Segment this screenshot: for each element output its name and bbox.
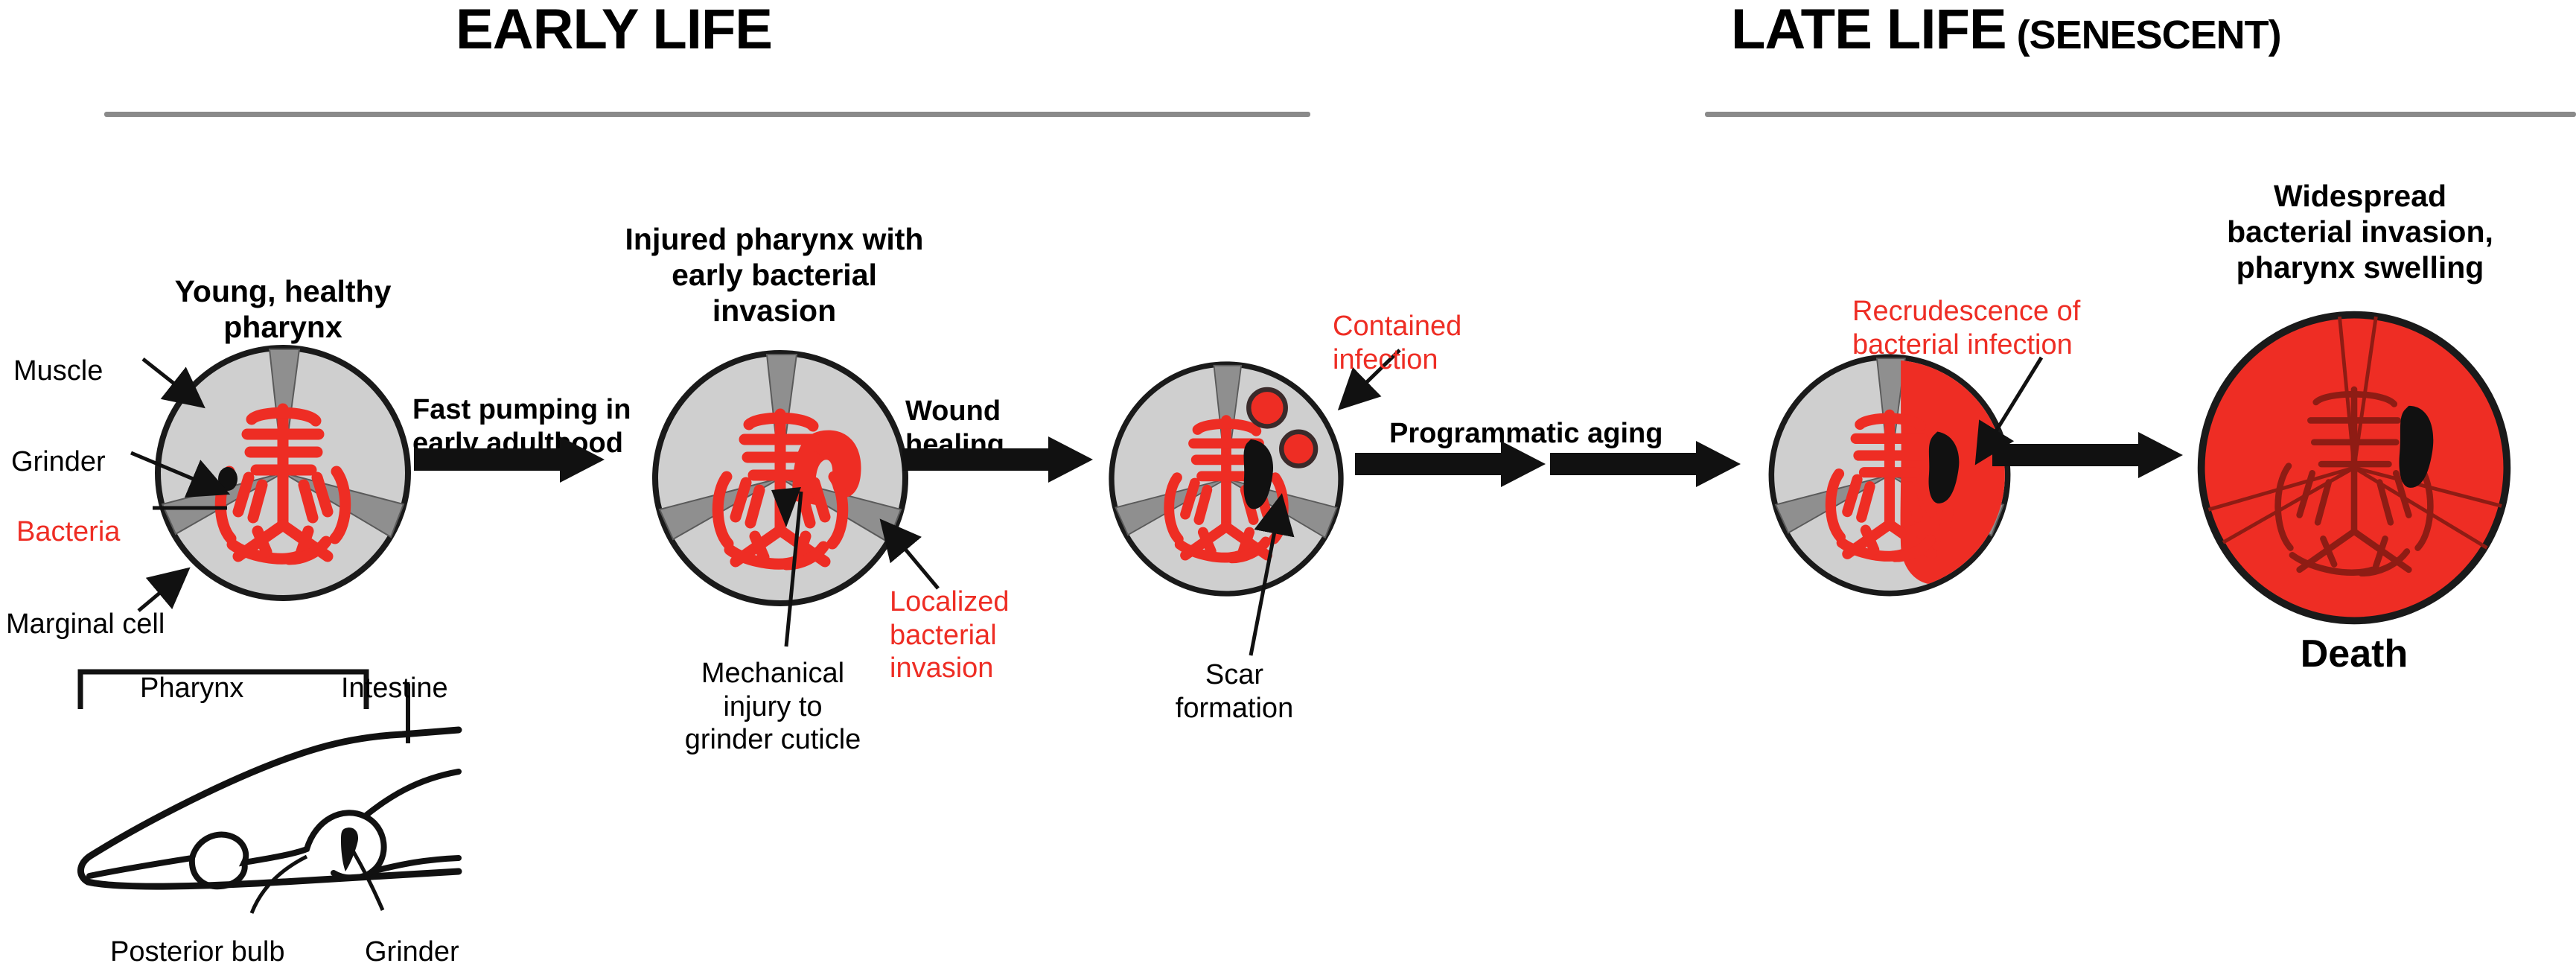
header-late-life: LATE LIFE(SENESCENT) [1731, 1, 2281, 58]
arrow-right-icon [1355, 441, 1546, 487]
inset-label-pharynx-text: Pharynx [140, 673, 243, 704]
header-late-life-label: LATE LIFE [1731, 0, 2006, 61]
arrow-right-icon [1992, 432, 2183, 478]
panel-5-title: Widespread bacterial invasion, pharynx s… [2167, 143, 2554, 286]
panel-2-title: Injured pharynx with early bacterial inv… [588, 186, 960, 329]
inset-label-pharynx: Pharynx [140, 639, 243, 705]
arrow-right-icon [902, 436, 1093, 483]
inset-label-intestine: Intestine [341, 639, 448, 705]
callout-recrudescence-label: Recrudescence of bacterial infection [1852, 296, 2080, 360]
header-early-life: EARLY LIFE [456, 1, 772, 58]
header-late-life-rule [1705, 112, 2576, 117]
step-3-arrow-first [1355, 439, 1549, 492]
leader-grinder [131, 453, 223, 492]
callout-scar-formation: Scar formation [1160, 626, 1309, 725]
panel-5-caption: Death [2190, 632, 2518, 676]
step-3-arrow-second [1550, 439, 1744, 492]
callout-recrudescence: Recrudescence of bacterial infection [1852, 262, 2080, 361]
leader-marginal-cell [138, 572, 185, 611]
worm-head-inset [15, 641, 536, 931]
inset-label-posterior-bulb: Posterior bulb [110, 903, 284, 969]
header-early-life-rule [104, 112, 1310, 117]
panel-1-leader-lines [0, 313, 313, 626]
callout-mechanical-injury: Mechanical injury to grinder cuticle [624, 624, 922, 757]
worm-head-schematic [15, 641, 536, 931]
arrow-right-icon [1550, 441, 1741, 487]
pharynx-cross-section-death [2190, 304, 2518, 632]
inset-label-grinder-text: Grinder [365, 936, 459, 968]
grinder-hook [341, 827, 358, 871]
callout-contained-infection: Contained infection [1333, 277, 1461, 376]
inset-label-intestine-text: Intestine [341, 673, 448, 704]
panel-5-title-label: Widespread bacterial invasion, pharynx s… [2227, 179, 2493, 285]
callout-mechanical-injury-label: Mechanical injury to grinder cuticle [685, 658, 861, 755]
leader-mechanical-injury [786, 492, 801, 646]
step-2-arrow [902, 435, 1096, 487]
inset-label-grinder: Grinder [365, 903, 459, 969]
step-1-arrow [414, 435, 608, 487]
panel-2-title-label: Injured pharynx with early bacterial inv… [625, 222, 924, 328]
step-4-arrow [1992, 431, 2186, 483]
header-early-life-label: EARLY LIFE [456, 0, 772, 61]
pharynx-lumen-upper [89, 813, 384, 877]
panel-5-diagram [2190, 304, 2518, 632]
panel-5-caption-label: Death [2301, 632, 2408, 676]
callout-scar-formation-label: Scar formation [1176, 659, 1293, 723]
header-late-life-sublabel: (SENESCENT) [2017, 13, 2281, 57]
callout-contained-infection-label: Contained infection [1333, 311, 1461, 375]
callout-localized-invasion-label: Localized bacterial invasion [890, 586, 1010, 684]
intestine-upper [365, 772, 459, 816]
inset-label-posterior-bulb-text: Posterior bulb [110, 936, 284, 968]
leader-muscle [143, 359, 200, 404]
callout-localized-invasion: Localized bacterial invasion [890, 553, 1010, 685]
arrow-right-icon [414, 436, 605, 483]
